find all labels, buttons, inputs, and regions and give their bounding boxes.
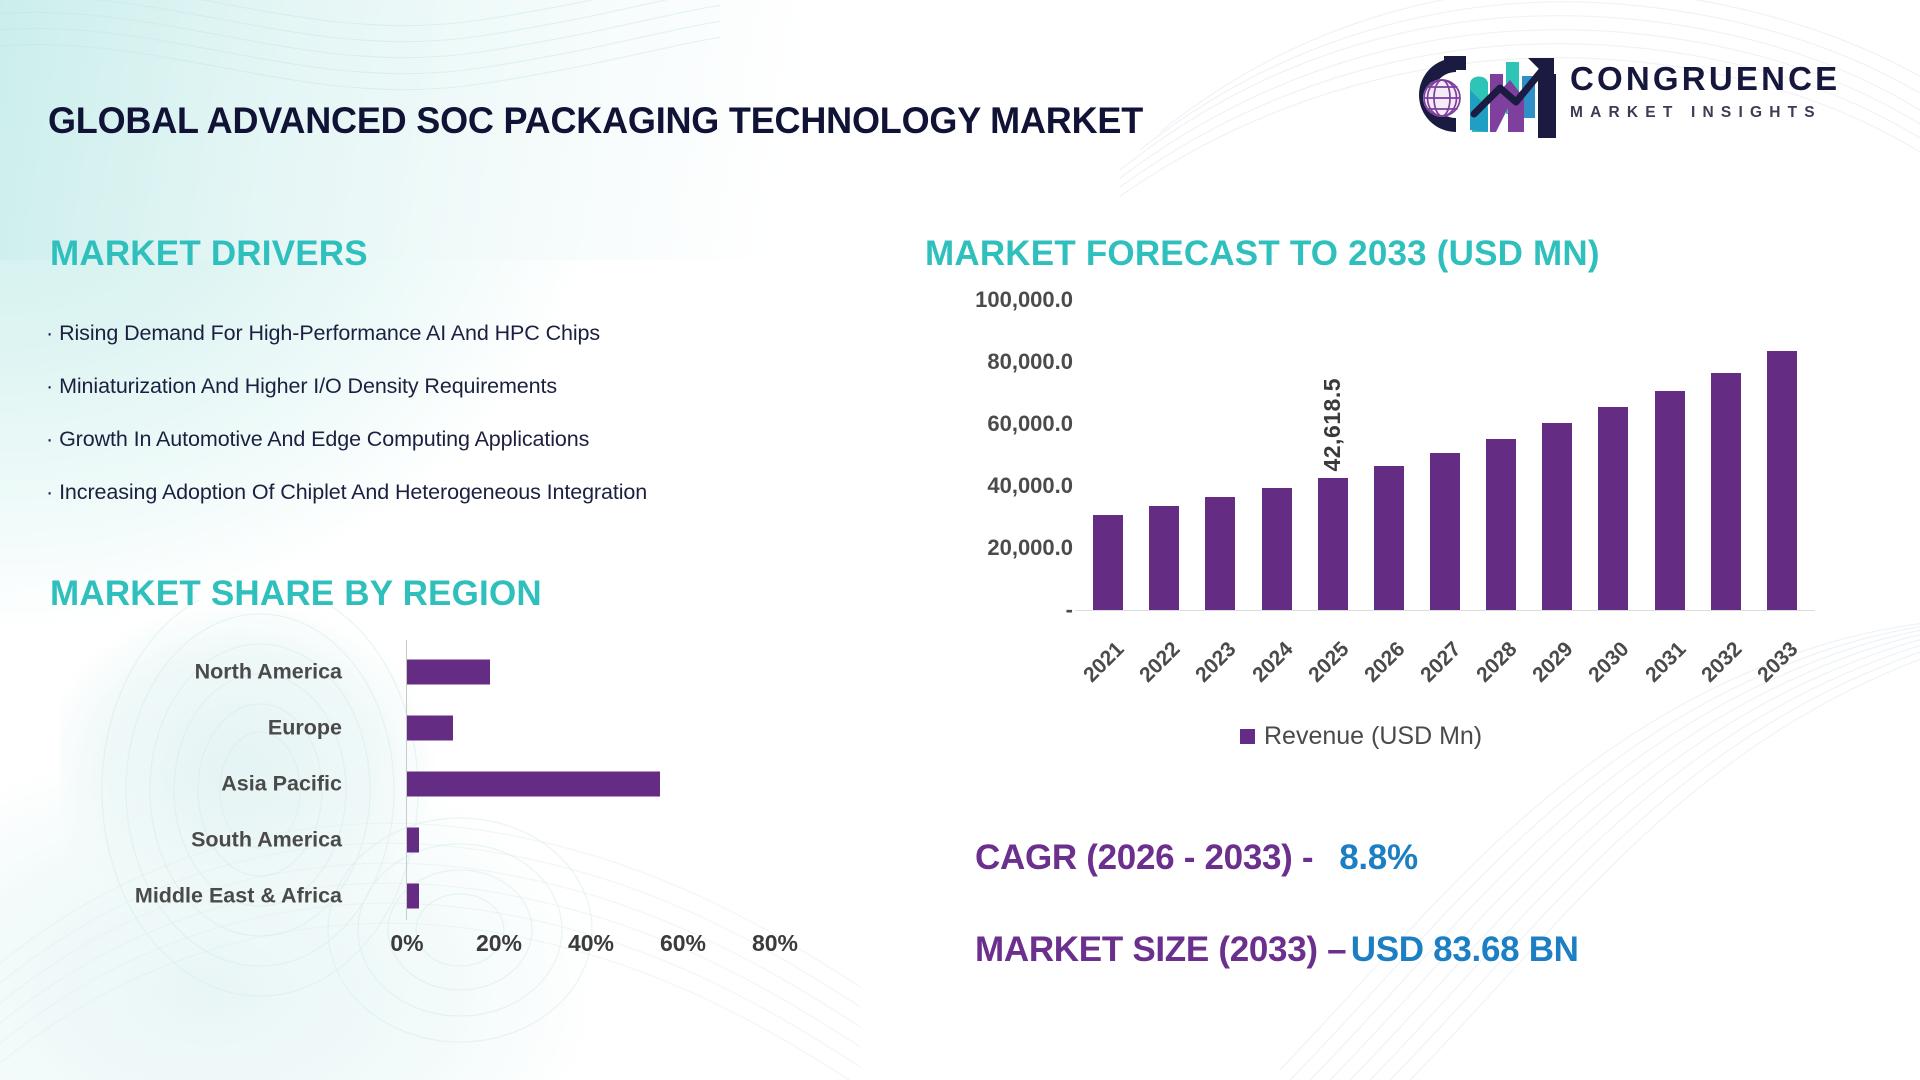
market-size-stat: MARKET SIZE (2033) – USD 83.68 BN xyxy=(975,930,1579,970)
forecast-x-tick-label: 2030 xyxy=(1585,638,1635,688)
forecast-y-tick-label: 40,000.0 xyxy=(987,473,1073,499)
legend-label-revenue: Revenue (USD Mn) xyxy=(1264,722,1482,751)
forecast-x-tick-label: 2023 xyxy=(1192,638,1242,688)
market-forecast-chart: 100,000.080,000.060,000.040,000.020,000.… xyxy=(925,300,1865,720)
market-driver-text: Rising Demand For High-Performance AI An… xyxy=(59,321,600,345)
forecast-x-tick-label: 2022 xyxy=(1135,638,1185,688)
forecast-bar xyxy=(1262,488,1292,610)
region-bar-label: South America xyxy=(191,828,342,853)
logo-wordmark: CONGRUENCE MARKET INSIGHTS xyxy=(1570,62,1840,122)
region-bar-label: Europe xyxy=(268,716,342,741)
market-driver-item: ·Miniaturization And Higher I/O Density … xyxy=(46,375,946,399)
forecast-bar xyxy=(1542,423,1572,610)
forecast-chart-plot-area xyxy=(1080,300,1810,610)
forecast-y-tick-label: - xyxy=(1066,597,1073,623)
forecast-bar xyxy=(1486,439,1516,610)
region-bar-row: South America xyxy=(60,812,760,868)
forecast-bar xyxy=(1430,453,1460,610)
market-size-label: MARKET SIZE (2033) – xyxy=(975,930,1346,969)
region-x-tick-label: 0% xyxy=(390,930,423,957)
bullet-icon: · xyxy=(46,374,53,398)
forecast-x-tick-label: 2021 xyxy=(1079,638,1129,688)
region-bar xyxy=(407,772,660,797)
bullet-icon: · xyxy=(46,427,53,451)
market-driver-item: ·Rising Demand For High-Performance AI A… xyxy=(46,322,946,346)
region-x-tick-label: 40% xyxy=(568,930,614,957)
market-driver-text: Increasing Adoption Of Chiplet And Heter… xyxy=(59,480,647,504)
cmi-globe-growth-logo-icon xyxy=(1404,52,1560,138)
forecast-x-tick-label: 2026 xyxy=(1360,638,1410,688)
forecast-x-tick-label: 2029 xyxy=(1528,638,1578,688)
forecast-x-tick-label: 2033 xyxy=(1753,638,1803,688)
forecast-y-tick-label: 100,000.0 xyxy=(975,287,1073,313)
company-logo[interactable]: CONGRUENCE MARKET INSIGHTS xyxy=(1404,48,1874,144)
market-driver-item: ·Increasing Adoption Of Chiplet And Hete… xyxy=(46,481,946,505)
market-driver-item: ·Growth In Automotive And Edge Computing… xyxy=(46,428,946,452)
page-title: GLOBAL ADVANCED SOC PACKAGING TECHNOLOGY… xyxy=(48,99,1143,142)
cagr-value: 8.8% xyxy=(1339,838,1418,877)
forecast-chart-legend: Revenue (USD Mn) xyxy=(1240,722,1482,751)
region-bar-row: Middle East & Africa xyxy=(60,868,760,924)
forecast-bar xyxy=(1205,497,1235,610)
market-driver-text: Growth In Automotive And Edge Computing … xyxy=(59,427,589,451)
region-bar-label: Asia Pacific xyxy=(221,772,342,797)
market-drivers-heading: MARKET DRIVERS xyxy=(50,234,368,274)
market-driver-text: Miniaturization And Higher I/O Density R… xyxy=(59,374,557,398)
forecast-y-tick-label: 20,000.0 xyxy=(987,535,1073,561)
market-size-value: USD 83.68 BN xyxy=(1351,930,1579,969)
market-forecast-heading: MARKET FORECAST TO 2033 (USD MN) xyxy=(925,234,1600,274)
logo-tagline: MARKET INSIGHTS xyxy=(1570,104,1840,122)
market-share-by-region-heading: MARKET SHARE BY REGION xyxy=(50,574,542,614)
market-drivers-list: ·Rising Demand For High-Performance AI A… xyxy=(46,322,946,535)
forecast-x-tick-label: 2024 xyxy=(1248,638,1298,688)
forecast-chart-baseline xyxy=(1075,610,1815,611)
region-x-tick-label: 20% xyxy=(476,930,522,957)
forecast-y-tick-label: 60,000.0 xyxy=(987,411,1073,437)
bullet-icon: · xyxy=(46,480,53,504)
region-bar xyxy=(407,884,419,909)
bullet-icon: · xyxy=(46,321,53,345)
forecast-bar xyxy=(1598,407,1628,610)
forecast-bar xyxy=(1374,466,1404,610)
forecast-x-tick-label: 2032 xyxy=(1697,638,1747,688)
legend-swatch-revenue xyxy=(1240,729,1255,744)
region-x-tick-label: 60% xyxy=(660,930,706,957)
region-bar-label: Middle East & Africa xyxy=(135,884,342,909)
region-bar xyxy=(407,716,453,741)
forecast-x-tick-label: 2028 xyxy=(1472,638,1522,688)
region-bar-row: Europe xyxy=(60,700,760,756)
forecast-bar-value-label: 42,618.5 xyxy=(1319,378,1346,472)
forecast-bar xyxy=(1711,373,1741,610)
forecast-bar xyxy=(1318,478,1348,610)
region-x-tick-label: 80% xyxy=(752,930,798,957)
forecast-bar xyxy=(1767,351,1797,610)
region-bar-row: Asia Pacific xyxy=(60,756,760,812)
forecast-bar xyxy=(1149,506,1179,610)
cagr-label: CAGR (2026 - 2033) - xyxy=(975,838,1313,877)
forecast-x-tick-label: 2031 xyxy=(1641,638,1691,688)
header: GLOBAL ADVANCED SOC PACKAGING TECHNOLOGY… xyxy=(0,0,1920,180)
forecast-x-tick-label: 2027 xyxy=(1416,638,1466,688)
region-bar-label: North America xyxy=(195,660,342,685)
logo-company-name: CONGRUENCE xyxy=(1570,62,1840,95)
cagr-stat: CAGR (2026 - 2033) - 8.8% xyxy=(975,838,1418,878)
region-bar xyxy=(407,660,490,685)
forecast-bar xyxy=(1093,515,1123,610)
forecast-y-tick-label: 80,000.0 xyxy=(987,349,1073,375)
region-chart-x-axis-labels: 0%20%40%60%80% xyxy=(60,930,760,966)
forecast-chart-y-axis-labels: 100,000.080,000.060,000.040,000.020,000.… xyxy=(925,300,1073,620)
market-share-by-region-chart: North AmericaEuropeAsia PacificSouth Ame… xyxy=(60,638,760,998)
forecast-bar xyxy=(1655,391,1685,610)
region-bar xyxy=(407,828,419,853)
region-bar-row: North America xyxy=(60,644,760,700)
forecast-x-tick-label: 2025 xyxy=(1304,638,1354,688)
